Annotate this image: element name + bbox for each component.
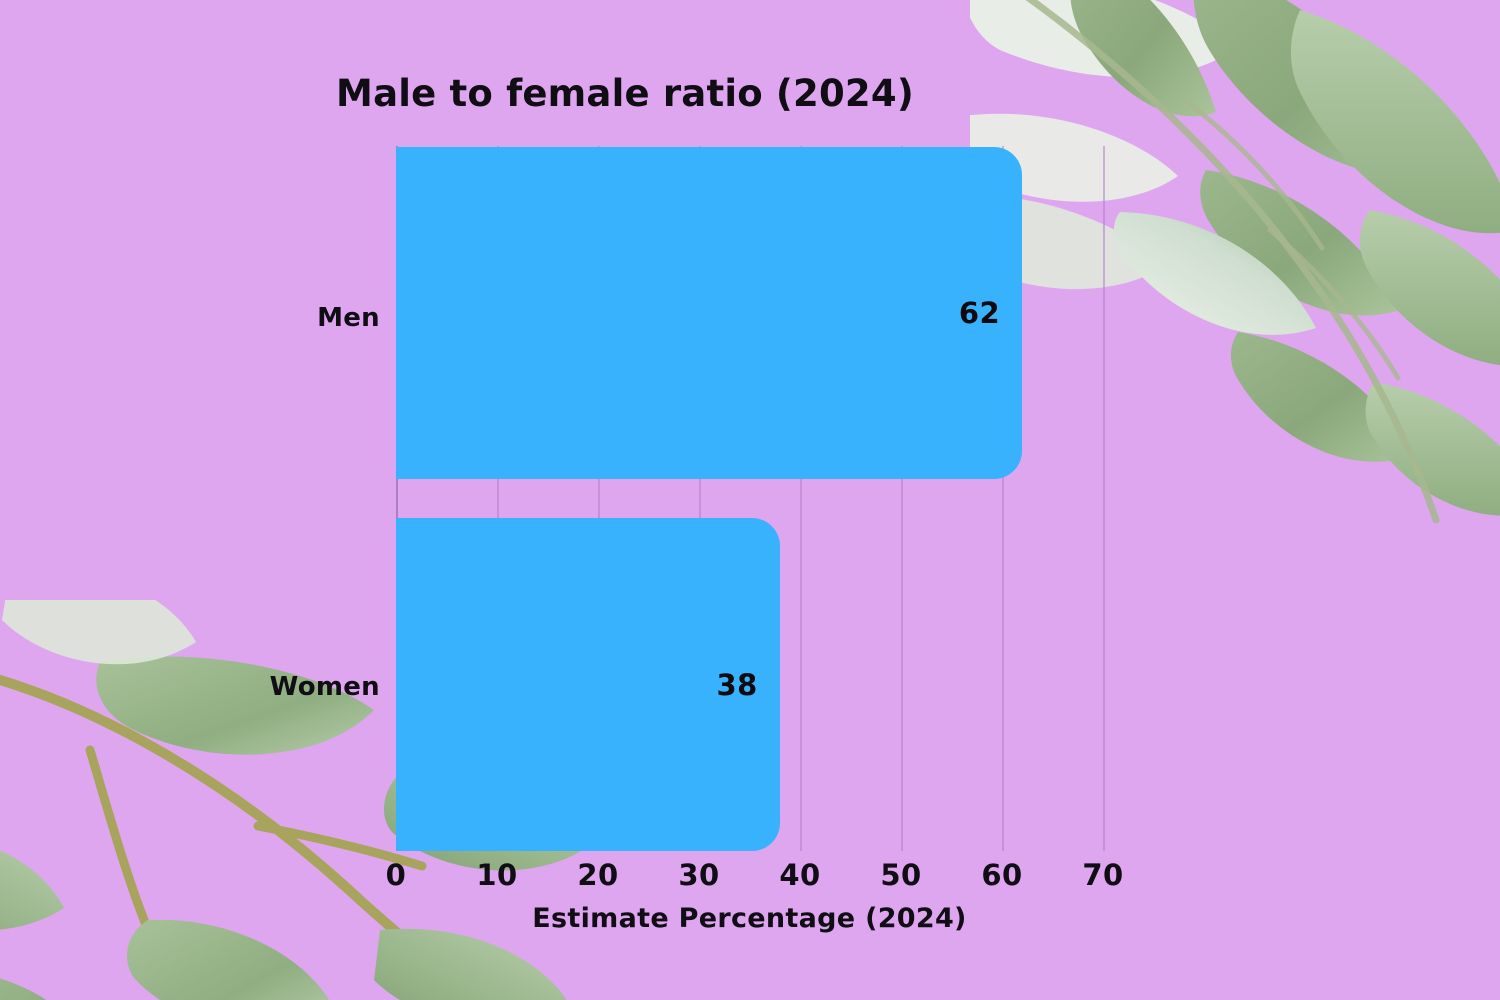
bar-men[interactable]: 62 [396,147,1022,479]
chart-title-text: Male to female ratio (2024) [336,72,914,115]
xtick-label-70: 70 [1082,858,1123,892]
xtick-label-0: 0 [386,858,407,892]
x-axis-label: Estimate Percentage (2024) [396,903,1103,934]
category-label-men: Men [317,303,380,333]
xtick-label-40: 40 [779,858,820,892]
xtick-label-10: 10 [476,858,517,892]
xtick-label-20: 20 [577,858,618,892]
category-label-women: Women [270,672,380,702]
chart-canvas: Male to female ratio (2024) Men Women 62… [0,0,1500,1000]
xtick-label-60: 60 [981,858,1022,892]
bar-value-women: 38 [716,668,757,702]
plot-area: 62 38 [396,120,1103,851]
xtick-label-30: 30 [678,858,719,892]
chart-title: Male to female ratio (2024) [0,72,1500,115]
xtick-label-50: 50 [880,858,921,892]
bar-women[interactable]: 38 [396,518,780,851]
gridline-70 [1103,146,1105,851]
bar-value-men: 62 [959,296,1000,330]
